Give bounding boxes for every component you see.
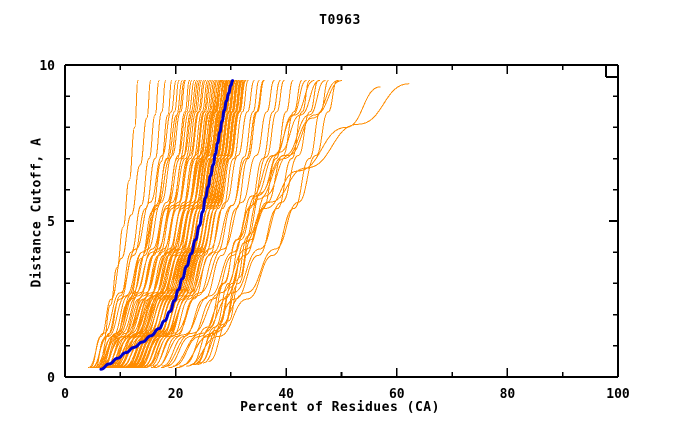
plot-area: 0204060801000510 [0, 0, 680, 440]
model-curves-group [88, 81, 409, 368]
figure-container: T0963 Distance Cutoff, A Percent of Resi… [0, 0, 680, 440]
y-tick-label: 10 [39, 59, 55, 74]
y-tick-label: 5 [47, 215, 55, 230]
y-tick-label: 0 [47, 371, 55, 386]
model-curve [95, 81, 138, 368]
x-axis-label: Percent of Residues (CA) [0, 400, 680, 415]
y-axis-label: Distance Cutoff, A [30, 88, 45, 338]
chart-title: T0963 [0, 13, 680, 28]
